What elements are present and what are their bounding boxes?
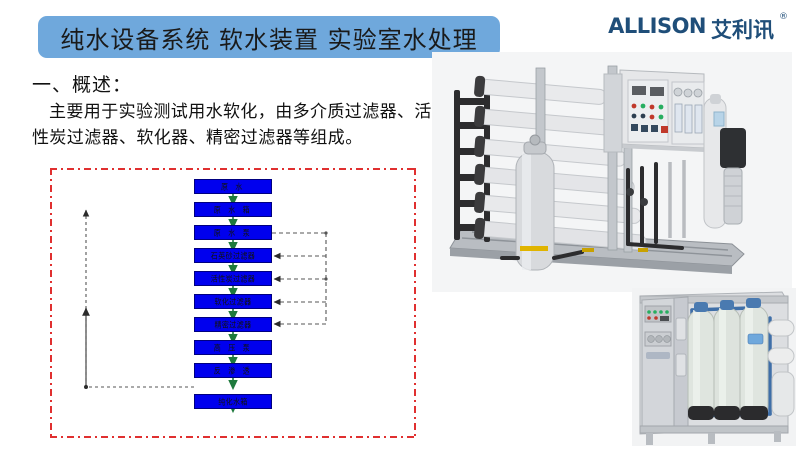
flow-node-label: 原 水 泵: [214, 227, 252, 239]
flow-node-raw-water[interactable]: 原 水: [194, 179, 272, 194]
flow-node-label: 软化过滤器: [215, 296, 252, 308]
water-softener-unit-photo: [632, 288, 796, 446]
page-title: 纯水设备系统 软水装置 实验室水处理: [60, 20, 477, 55]
section-paragraph: 主要用于实验测试用水软化，由多介质过滤器、活性炭过滤器、软化器、精密过滤器等组成…: [32, 99, 442, 151]
flow-node-activated-carbon-filter[interactable]: 活性炭过滤器: [194, 271, 272, 286]
flow-node-label: 高 压 泵: [214, 342, 252, 354]
flow-node-purified-water-tank[interactable]: 纯化水箱: [194, 394, 272, 409]
flow-node-raw-water-tank[interactable]: 原 水 箱: [194, 202, 272, 217]
flow-node-label: 纯化水箱: [218, 396, 248, 408]
flow-node-high-pressure-pump[interactable]: 高 压 泵: [194, 340, 272, 355]
registered-trademark-icon: ®: [779, 12, 788, 22]
slide-title-banner: 纯水设备系统 软水装置 实验室水处理: [38, 16, 500, 58]
flow-node-softening-filter[interactable]: 软化过滤器: [194, 294, 272, 309]
flow-node-precision-filter[interactable]: 精密过滤器: [194, 317, 272, 332]
flow-node-label: 精密过滤器: [215, 319, 252, 331]
brand-logo: ALLISON 艾利讯 ®: [608, 14, 788, 44]
flow-node-label: 反 渗 透: [214, 365, 252, 377]
flow-node-label: 活性炭过滤器: [211, 273, 255, 285]
logo-english-text: ALLISON: [608, 14, 706, 38]
flow-node-quartz-sand-filter[interactable]: 石英砂过滤器: [194, 248, 272, 263]
flow-node-label: 原 水 箱: [214, 204, 252, 216]
logo-chinese-text: 艾利讯: [711, 14, 774, 44]
section-heading: 一、概述：: [32, 70, 132, 97]
flow-node-raw-water-pump[interactable]: 原 水 泵: [194, 225, 272, 240]
ro-water-treatment-system-photo: [432, 52, 792, 292]
flow-node-label: 石英砂过滤器: [211, 250, 255, 262]
flow-node-label: 原 水: [221, 181, 245, 193]
flow-node-reverse-osmosis[interactable]: 反 渗 透: [194, 363, 272, 378]
